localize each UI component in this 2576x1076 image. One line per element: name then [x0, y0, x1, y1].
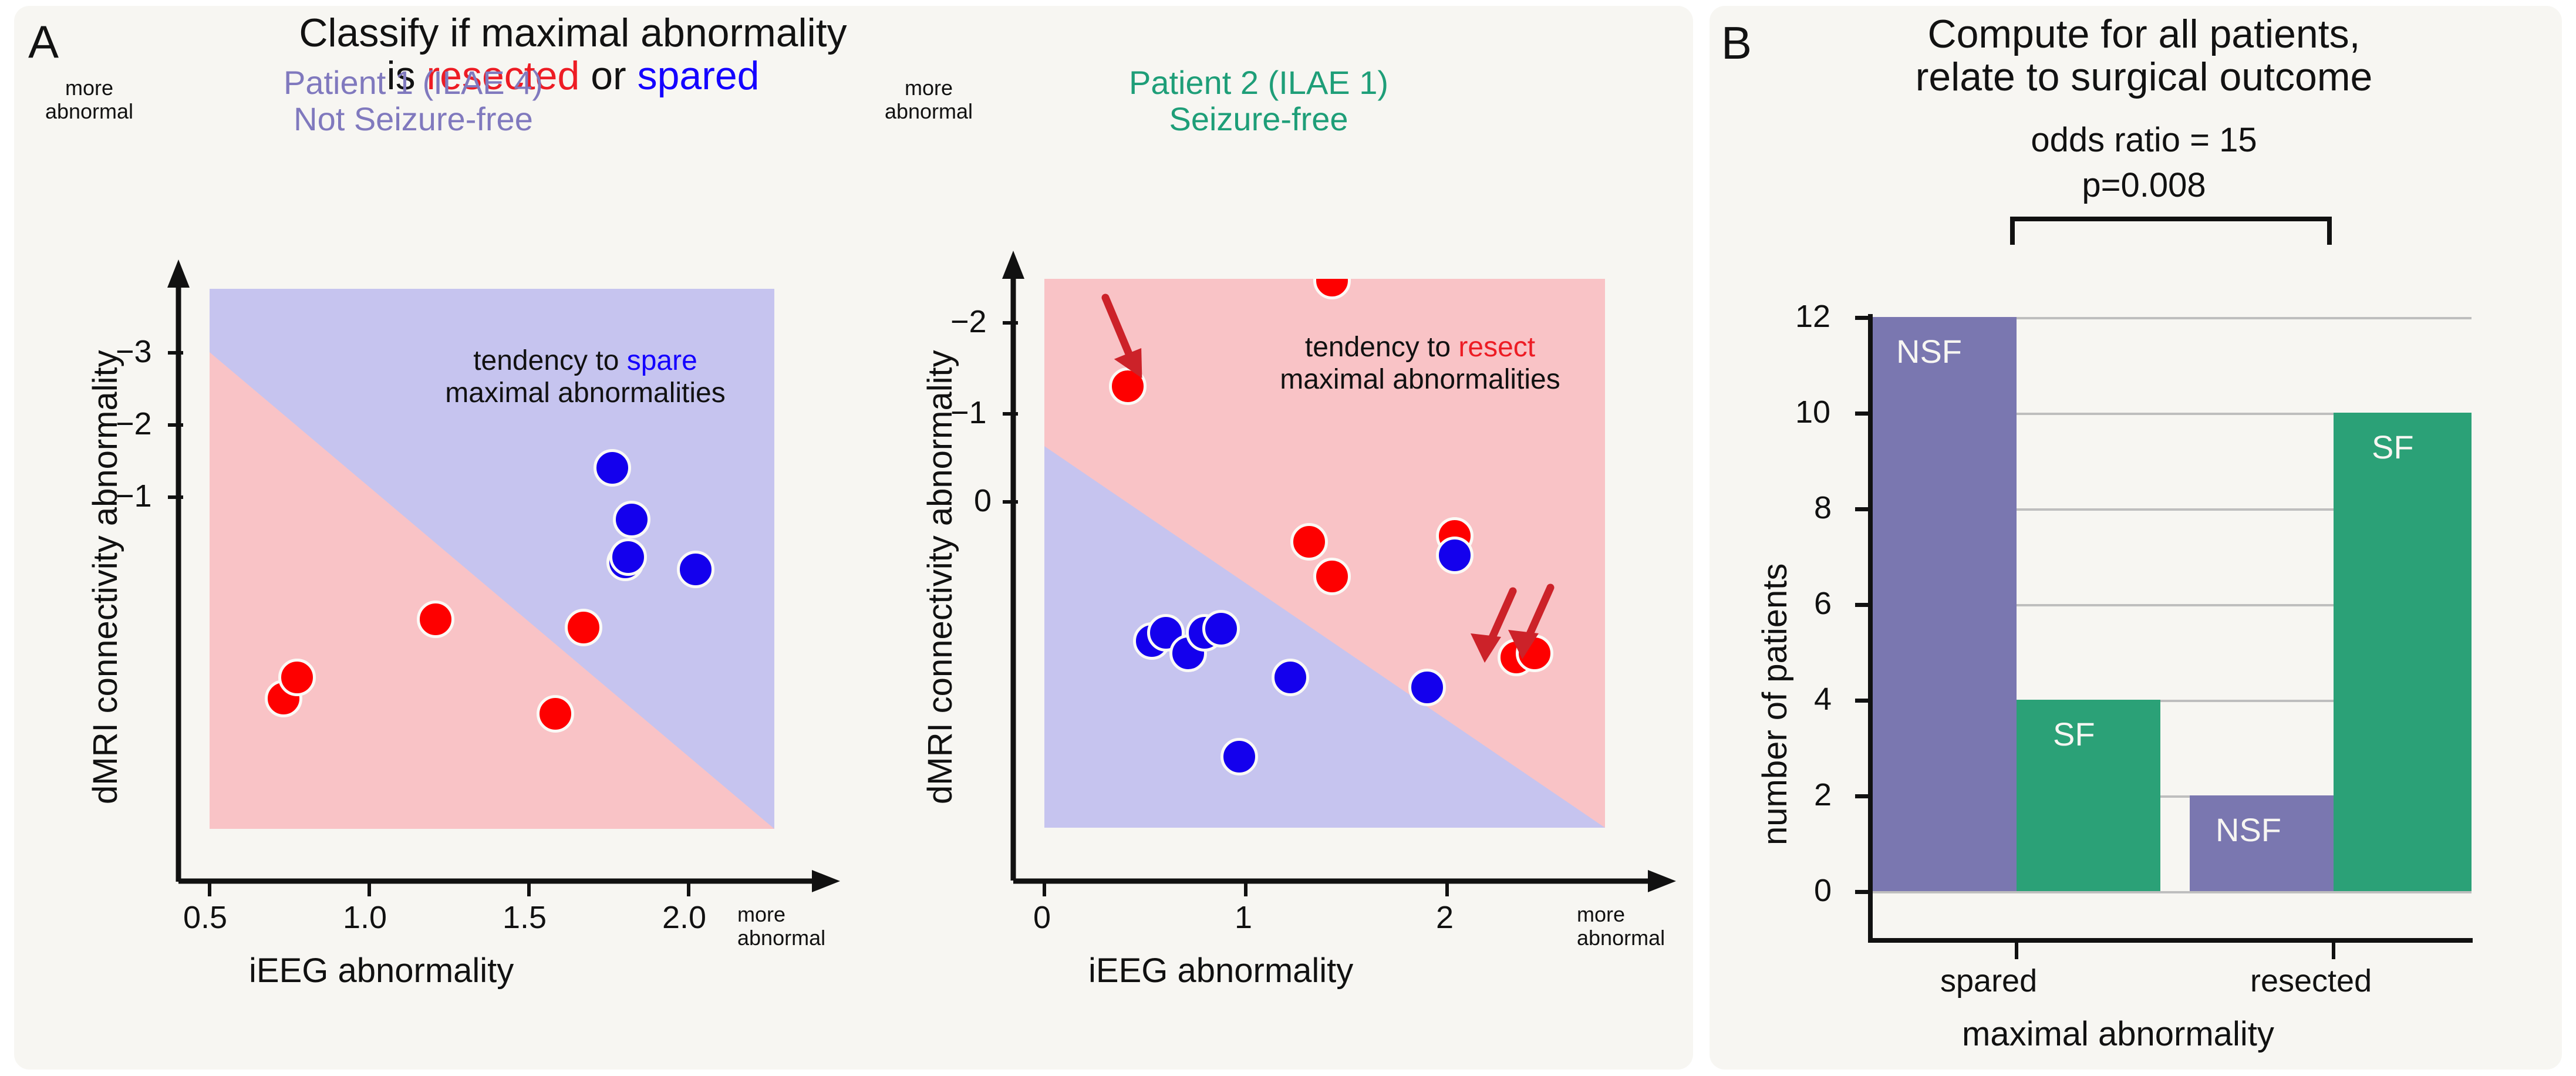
bar-x-tick [2015, 943, 2018, 959]
bar-x-axis [1868, 938, 2473, 943]
bar-y-ticklabel: 2 [1814, 777, 1832, 813]
x-tick-right [1244, 881, 1247, 896]
bar-y-axis-title: number of patients [1755, 564, 1795, 845]
data-point-resected [417, 601, 454, 638]
data-point-spared [613, 501, 650, 538]
x-tick-left [367, 881, 371, 896]
data-point-spared [1272, 659, 1309, 696]
panel-b: B Compute for all patients, relate to su… [1710, 6, 2562, 1070]
data-point-spared [609, 538, 647, 576]
annotation-right-line1: tendency to resect [1238, 332, 1602, 364]
data-point-resected [1313, 558, 1351, 595]
annotation-left-line1: tendency to spare [403, 345, 767, 377]
data-point-resected [278, 659, 316, 696]
bar-label-resected-sf: SF [2372, 428, 2414, 466]
pointer-arrow-icon [1468, 583, 1603, 677]
bar-y-tick [1855, 794, 1869, 798]
x-axis-right [999, 860, 1683, 901]
x-axis-title-left: iEEG abnormality [249, 951, 514, 990]
bar-x-ticklabel-spared: spared [1940, 963, 2037, 999]
data-point-spared [594, 449, 631, 487]
patient-2-id: Patient 2 (ILAE 1) [1083, 65, 1435, 101]
annot-kw-right: resect [1458, 332, 1535, 363]
bar-y-ticklabel: 12 [1795, 298, 1830, 335]
data-point-spared [1202, 610, 1240, 647]
y-tick-right [1003, 500, 1018, 504]
x-ticklabel-left: 0.5 [183, 899, 227, 936]
x-ticklabel-right: 2 [1436, 899, 1454, 936]
y-axis-title-left: dMRI connectivity abnormality [86, 350, 125, 804]
bar-label-spared-sf: SF [2053, 715, 2095, 753]
y-tick-right [1003, 321, 1018, 325]
bar-x-axis-title: maximal abnormality [1962, 1014, 2274, 1054]
y-more-abnormal-label-right: moreabnormal [864, 76, 993, 124]
annotation-right-line2: maximal abnormalities [1238, 364, 1602, 396]
bar-spared-nsf [1873, 317, 2017, 891]
scatter-plot-patient-2: Patient 2 (ILAE 1) Seizure-free moreabno… [854, 6, 1693, 1070]
x-ticklabel-right: 0 [1033, 899, 1051, 936]
annot-pre-left: tendency to [473, 345, 627, 376]
bar-y-ticklabel: 0 [1814, 872, 1832, 909]
bar-y-tick [1855, 316, 1869, 320]
scatter-plot-patient-1: Patient 1 (ILAE 4) Not Seizure-free more… [14, 6, 854, 1070]
x-ticklabel-left: 2.0 [662, 899, 706, 936]
x-ticklabel-left: 1.5 [503, 899, 547, 936]
bar-y-tick [1855, 507, 1869, 511]
patient-1-header: Patient 1 (ILAE 4) Not Seizure-free [237, 65, 589, 137]
patient-1-outcome: Not Seizure-free [237, 101, 589, 137]
y-axis-title-right: dMRI connectivity abnormality [921, 350, 960, 804]
patient-2-outcome: Seizure-free [1083, 101, 1435, 137]
patient-1-plot-area: tendency to spare maximal abnormalities [210, 289, 774, 829]
bar-y-tick [1855, 699, 1869, 703]
y-tick-left [168, 495, 183, 499]
patient-2-plot-area: tendency to resect maximal abnormalities [1044, 279, 1605, 828]
bar-y-ticklabel: 6 [1814, 585, 1832, 622]
x-ticklabel-right: 1 [1235, 899, 1252, 936]
x-more-abnormal-label-left: moreabnormal [737, 903, 861, 950]
figure-root: A Classify if maximal abnormality is res… [0, 0, 2576, 1076]
y-ticklabel-right: −2 [950, 303, 987, 340]
patient-1-id: Patient 1 (ILAE 4) [237, 65, 589, 101]
y-more-abnormal-label-left: moreabnormal [25, 76, 154, 124]
y-tick-right [1003, 412, 1018, 416]
annot-pre-right: tendency to [1305, 332, 1459, 363]
bar-label-resected-nsf: NSF [2216, 811, 2281, 849]
annot-kw-left: spare [627, 345, 697, 376]
bar-x-tick [2332, 943, 2335, 959]
data-point-resected [1290, 523, 1328, 561]
x-axis-left [164, 860, 845, 901]
data-point-spared [1220, 738, 1258, 775]
y-axis-right [999, 249, 1040, 889]
x-ticklabel-left: 1.0 [343, 899, 387, 936]
bar-y-tick [1855, 890, 1869, 894]
data-point-spared [1408, 669, 1446, 706]
y-ticklabel-right: 0 [974, 483, 992, 519]
data-point-spared [677, 551, 714, 588]
pointer-arrow-icon [1096, 292, 1184, 392]
x-tick-left [208, 881, 211, 896]
data-point-resected [565, 609, 602, 646]
bar-y-ticklabel: 4 [1814, 681, 1832, 717]
gridline [1873, 891, 2472, 893]
bar-y-ticklabel: 10 [1795, 394, 1830, 430]
bar-chart: NSF SF NSF SF 12 10 8 6 4 2 0 [1710, 6, 2562, 1070]
y-tick-left [168, 351, 183, 355]
annotation-left: tendency to spare maximal abnormalities [403, 345, 767, 409]
bar-x-ticklabel-resected: resected [2250, 963, 2372, 999]
annotation-right: tendency to resect maximal abnormalities [1238, 332, 1602, 396]
x-tick-left [687, 881, 690, 896]
x-tick-left [527, 881, 531, 896]
bar-y-axis [1868, 314, 1873, 942]
x-tick-right [1043, 881, 1046, 896]
bar-y-tick [1855, 603, 1869, 607]
x-axis-title-right: iEEG abnormality [1088, 951, 1353, 990]
patient-2-header: Patient 2 (ILAE 1) Seizure-free [1083, 65, 1435, 137]
y-tick-left [168, 423, 183, 427]
bar-label-spared-nsf: NSF [1896, 332, 1962, 370]
panel-a: A Classify if maximal abnormality is res… [14, 6, 1693, 1070]
x-more-abnormal-label-right: moreabnormal [1577, 903, 1700, 950]
data-point-spared [1436, 537, 1474, 574]
bar-y-ticklabel: 8 [1814, 490, 1832, 526]
data-point-resected [537, 695, 574, 733]
bar-y-tick [1855, 411, 1869, 416]
x-tick-right [1445, 881, 1449, 896]
annotation-left-line2: maximal abnormalities [403, 377, 767, 410]
bar-resected-sf [2334, 413, 2472, 891]
